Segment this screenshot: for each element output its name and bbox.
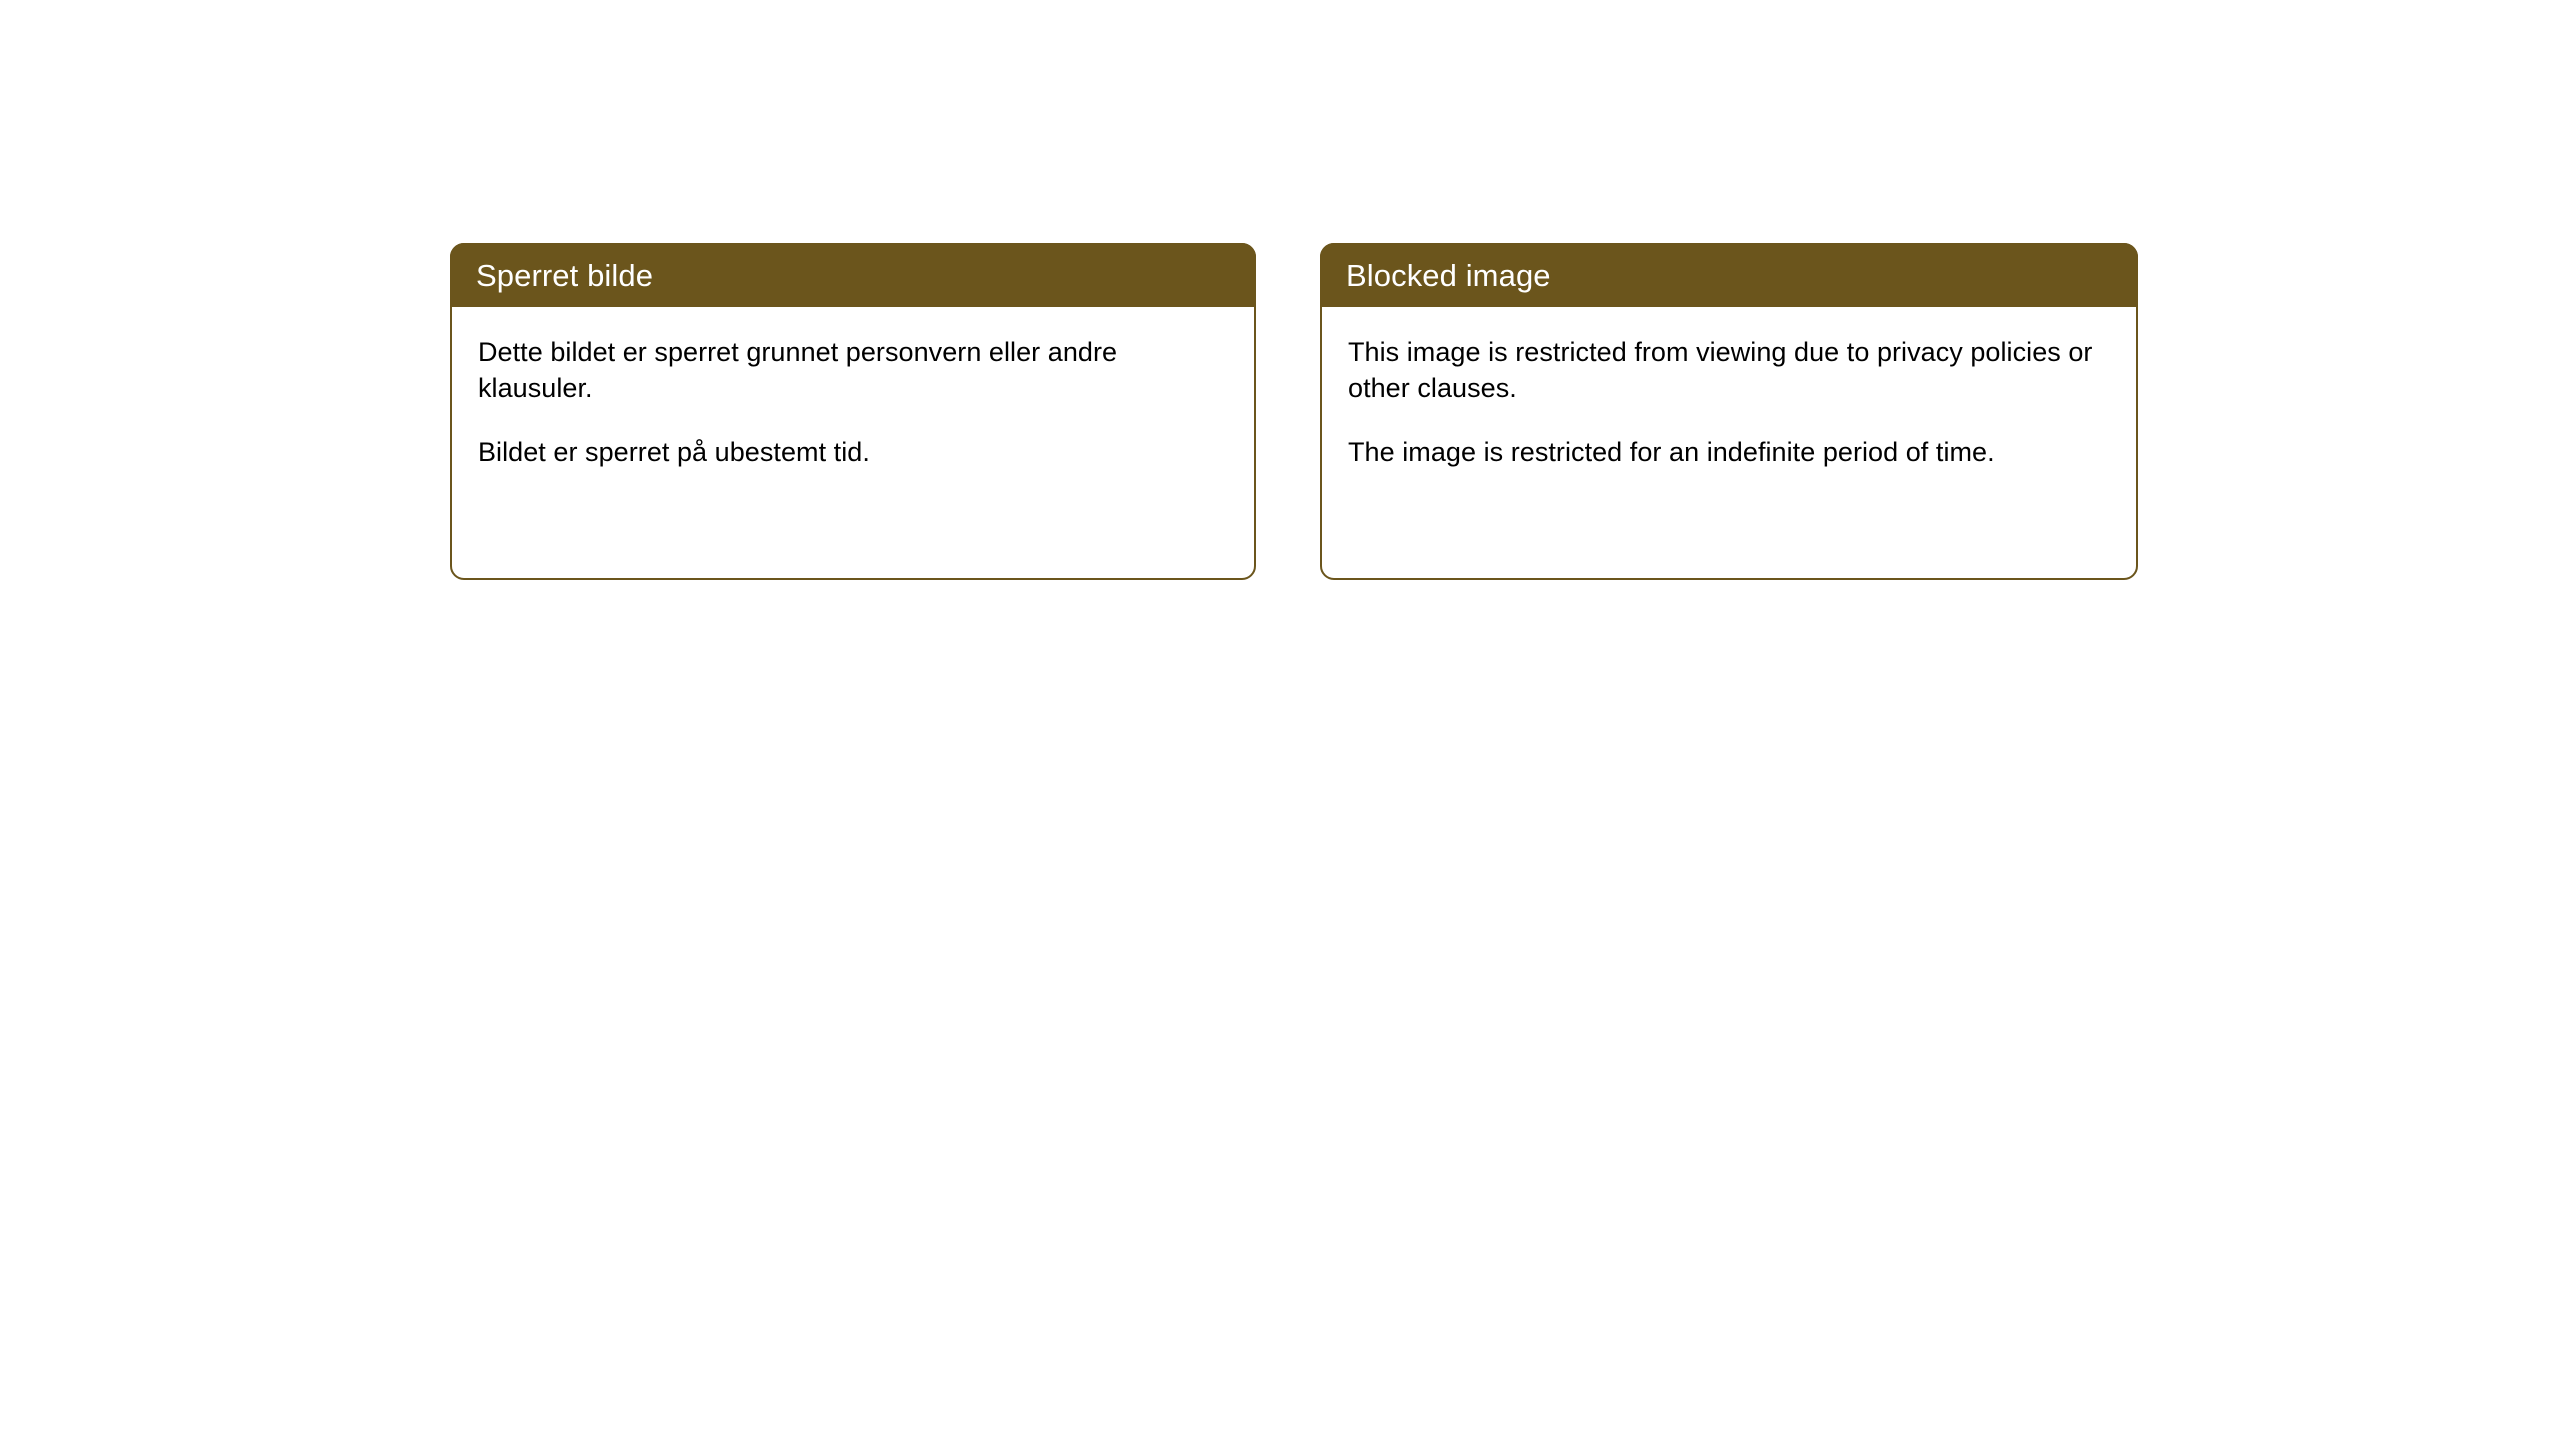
card-paragraph-secondary-norwegian: Bildet er sperret på ubestemt tid. — [478, 435, 1228, 471]
card-paragraph-primary-english: This image is restricted from viewing du… — [1348, 335, 2110, 407]
card-title-english: Blocked image — [1320, 260, 1551, 291]
card-title-norwegian: Sperret bilde — [450, 260, 653, 291]
card-body-english: This image is restricted from viewing du… — [1322, 307, 2136, 578]
blocked-image-card-norwegian: Sperret bilde Dette bildet er sperret gr… — [450, 243, 1256, 580]
card-header-norwegian: Sperret bilde — [450, 243, 1256, 307]
blocked-image-card-english: Blocked image This image is restricted f… — [1320, 243, 2138, 580]
page-canvas: Sperret bilde Dette bildet er sperret gr… — [0, 0, 2560, 1440]
card-paragraph-primary-norwegian: Dette bildet er sperret grunnet personve… — [478, 335, 1228, 407]
card-body-norwegian: Dette bildet er sperret grunnet personve… — [452, 307, 1254, 578]
card-header-english: Blocked image — [1320, 243, 2138, 307]
card-paragraph-secondary-english: The image is restricted for an indefinit… — [1348, 435, 2110, 471]
